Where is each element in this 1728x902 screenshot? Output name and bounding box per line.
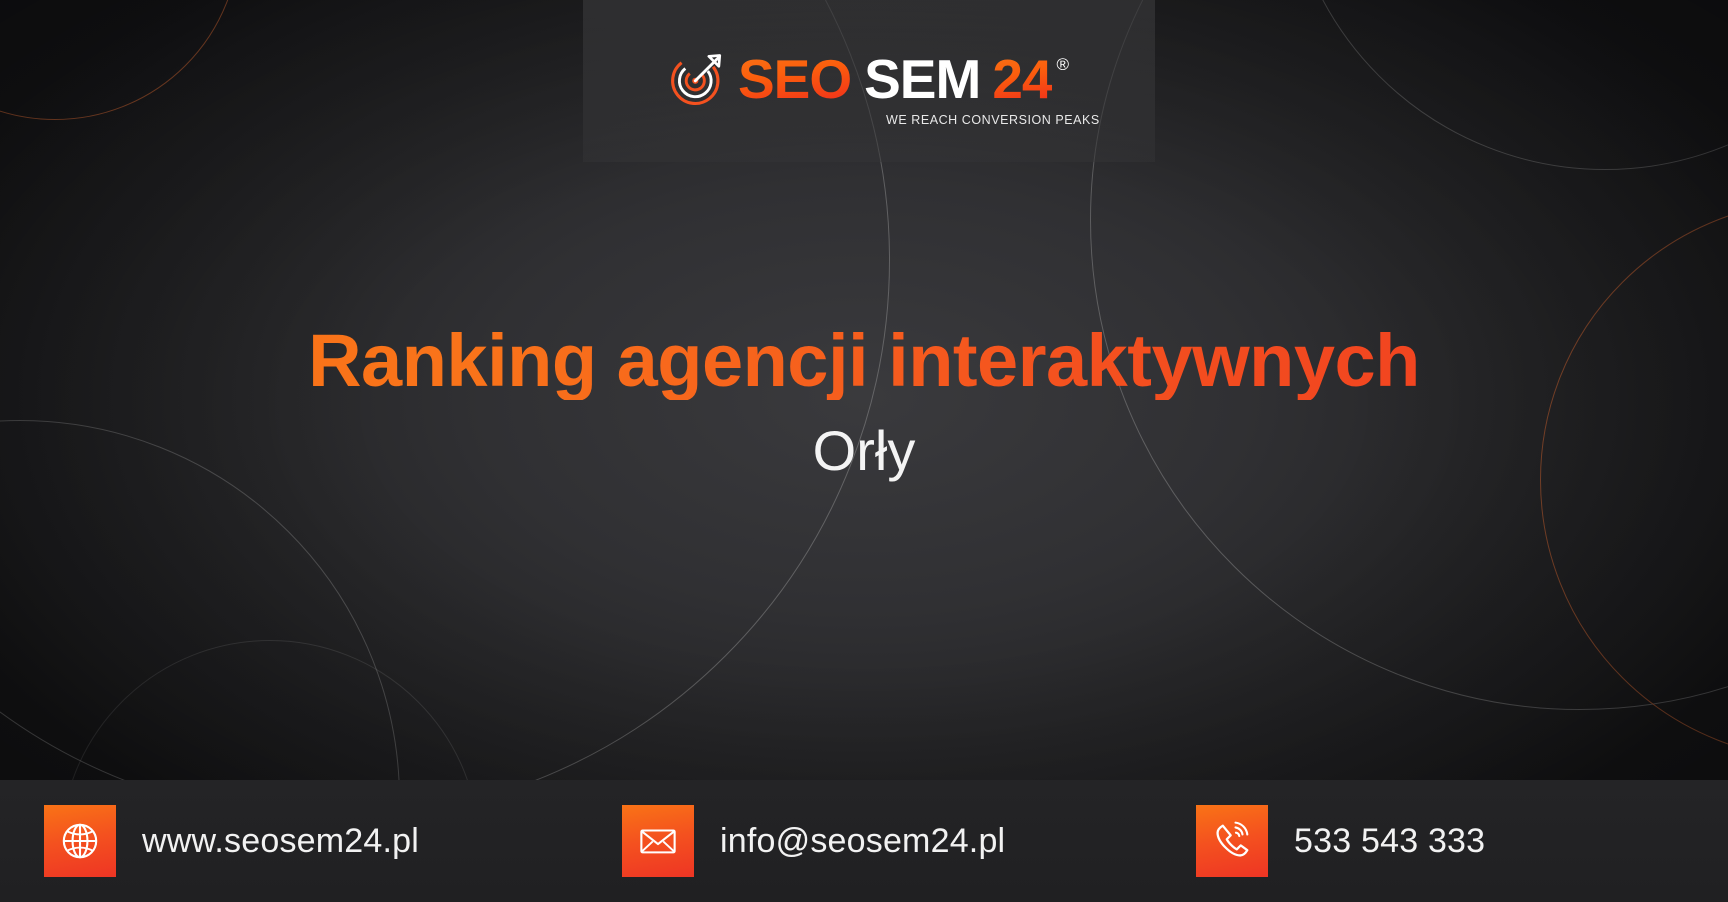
footer-label-website: www.seosem24.pl <box>142 822 419 861</box>
logo-word-24: 24 <box>992 52 1051 107</box>
decorative-circle-orange-1 <box>0 0 240 120</box>
logo-panel: SEO SEM 24 ® WE REACH CONVERSION PEAKS <box>583 0 1155 162</box>
headline-block: Ranking agencji interaktywnych Orły <box>0 322 1728 480</box>
footer-item-website[interactable]: www.seosem24.pl <box>44 805 419 877</box>
brand-logo: SEO SEM 24 ® <box>669 50 1069 108</box>
phone-ring-icon <box>1196 805 1268 877</box>
footer-label-phone: 533 543 333 <box>1294 822 1485 861</box>
globe-icon <box>44 805 116 877</box>
target-arrow-icon <box>669 50 727 108</box>
contact-footer: www.seosem24.pl info@seosem24.pl <box>0 780 1728 902</box>
slide-canvas: SEO SEM 24 ® WE REACH CONVERSION PEAKS R… <box>0 0 1728 902</box>
logo-word-sem: SEM <box>864 52 980 107</box>
brand-tagline: WE REACH CONVERSION PEAKS <box>886 113 1100 127</box>
footer-label-email: info@seosem24.pl <box>720 822 1005 861</box>
registered-trademark-icon: ® <box>1057 56 1070 73</box>
page-subtitle: Orły <box>0 422 1728 481</box>
logo-word-seo: SEO <box>738 52 851 107</box>
page-title: Ranking agencji interaktywnych <box>0 322 1728 400</box>
envelope-icon <box>622 805 694 877</box>
footer-item-phone[interactable]: 533 543 333 <box>1196 805 1485 877</box>
decorative-circle-gray-4 <box>1285 0 1728 170</box>
footer-item-email[interactable]: info@seosem24.pl <box>622 805 1005 877</box>
logo-wordmark: SEO SEM 24 ® <box>738 52 1069 107</box>
